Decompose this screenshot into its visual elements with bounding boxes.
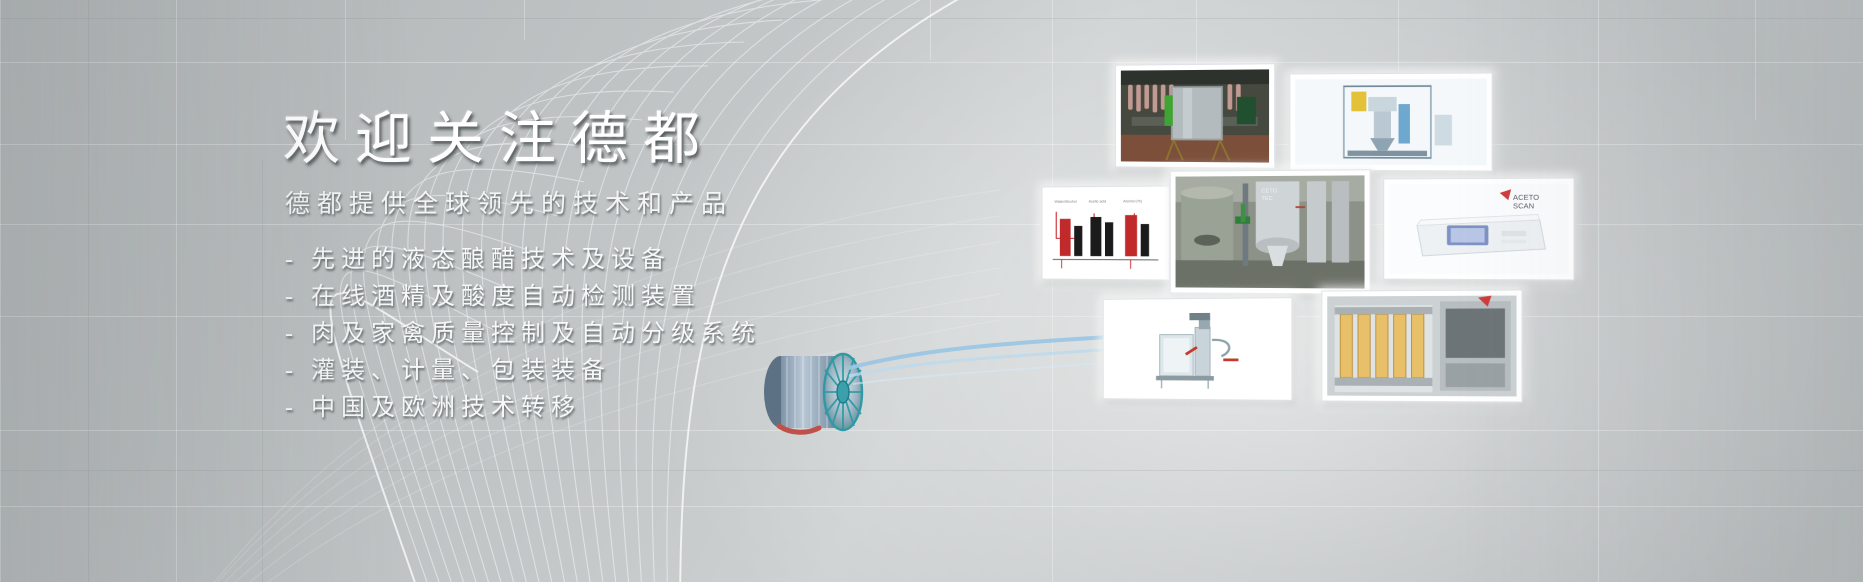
panel-membrane-filtration-unit[interactable] xyxy=(1321,289,1522,402)
panel-chromatography-chart[interactable]: Water/AlcoholAcetic acid Alcohol (%) xyxy=(1042,185,1170,280)
list-item: - 灌装、计量、包装装备 xyxy=(285,355,761,387)
list-item: - 先进的液态酿醋技术及设备 xyxy=(285,244,761,276)
panel-image xyxy=(1108,303,1286,394)
feature-list: - 先进的液态酿醋技术及设备 - 在线酒精及酸度自动检测装置 - 肉及家禽质量控… xyxy=(285,244,761,429)
panel-image xyxy=(1121,69,1269,162)
svg-text:TEC: TEC xyxy=(1261,196,1272,202)
banner-stage: 欢迎关注德都 德都提供全球领先的技术和产品 - 先进的液态酿醋技术及设备 - 在… xyxy=(0,0,1863,582)
panel-image: CETOTEC xyxy=(1176,175,1365,288)
list-item: - 肉及家禽质量控制及自动分级系统 xyxy=(285,318,761,350)
page-title: 欢迎关注德都 xyxy=(283,93,715,175)
panel-image xyxy=(1327,296,1516,397)
list-item: - 中国及欧洲技术转移 xyxy=(285,392,761,424)
svg-text:Water/Alcohol: Water/Alcohol xyxy=(1054,200,1076,204)
svg-text:SCAN: SCAN xyxy=(1513,201,1534,210)
panel-poultry-processing-line[interactable] xyxy=(1115,63,1275,168)
panel-fermentation-tank-plant[interactable]: CETOTEC xyxy=(1170,169,1371,294)
panel-image: Water/AlcoholAcetic acid Alcohol (%) xyxy=(1047,192,1164,275)
panel-image xyxy=(1295,79,1486,166)
svg-text:CETO: CETO xyxy=(1261,189,1277,195)
list-item: - 在线酒精及酸度自动检测装置 xyxy=(285,281,761,313)
panel-image: ACETO SCAN xyxy=(1389,184,1568,275)
banner-copy: 欢迎关注德都 德都提供全球领先的技术和产品 - 先进的液态酿醋技术及设备 - 在… xyxy=(0,0,900,582)
turbine-spool-graphic xyxy=(755,330,875,440)
panel-packaging-machine-diagram[interactable] xyxy=(1289,73,1492,172)
panel-acetoscan-analyzer[interactable]: ACETO SCAN xyxy=(1383,178,1574,281)
svg-text:Acetic acid: Acetic acid xyxy=(1089,200,1107,204)
svg-text:Alcohol (%): Alcohol (%) xyxy=(1123,199,1142,203)
panel-filling-skid-diagram[interactable] xyxy=(1103,297,1293,401)
page-subtitle: 德都提供全球领先的技术和产品 xyxy=(285,184,733,220)
